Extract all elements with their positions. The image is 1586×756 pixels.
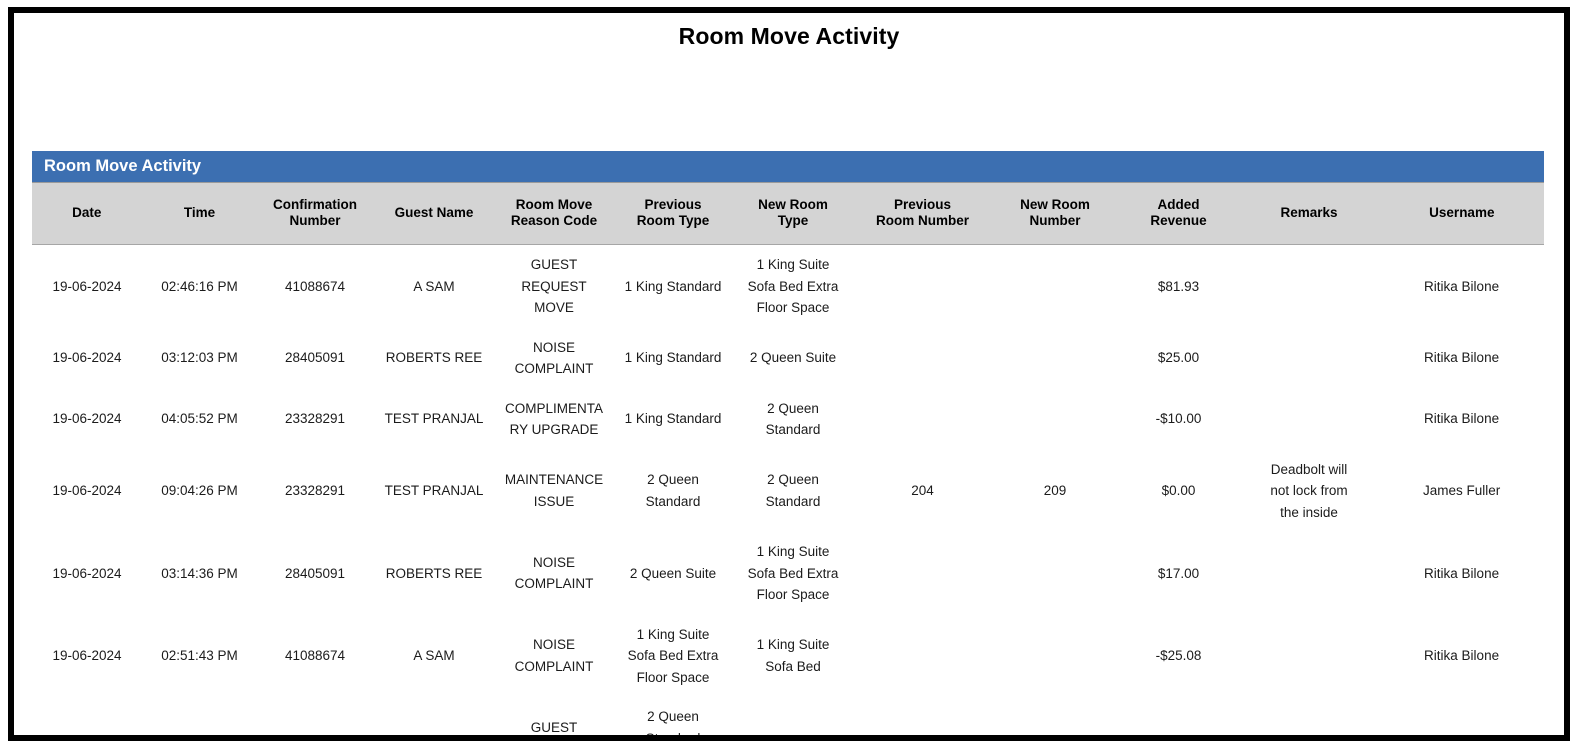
cell-guest-name: ROBERTS REE [373, 532, 495, 615]
cell-confirmation-number: 28405091 [257, 328, 373, 389]
cell-reason-code: GUEST REQUEST MOVE [495, 697, 613, 735]
cell-new-room-number [992, 328, 1118, 389]
cell-new-room-type: 2 Queen Standard [733, 389, 853, 450]
table-row: 19-06-202404:05:52 PM23328291TEST PRANJA… [32, 389, 1544, 450]
cell-new-room-number: 209 [992, 450, 1118, 533]
cell-previous-room-number: 204 [853, 450, 992, 533]
cell-date: 19-06-2024 [32, 389, 142, 450]
cell-time: 02:46:16 PM [142, 245, 257, 328]
cell-reason-code: NOISE COMPLAINT [495, 328, 613, 389]
cell-confirmation-number: 41088674 [257, 615, 373, 698]
cell-username: Ritika Bilone [1379, 389, 1544, 450]
cell-username: Ritika Bilone [1379, 245, 1544, 328]
cell-date: 19-06-2024 [32, 615, 142, 698]
cell-previous-room-number [853, 328, 992, 389]
report-page-frame: Room Move Activity Room Move Activity Da… [8, 7, 1570, 741]
cell-date: 19-06-2024 [32, 328, 142, 389]
cell-confirmation-number: 41088674 [257, 245, 373, 328]
cell-new-room-number [992, 532, 1118, 615]
cell-previous-room-number [853, 389, 992, 450]
table-row: 19-06-202409:04:26 PM23328291TEST PRANJA… [32, 450, 1544, 533]
column-header-room-move-reason-code: Room Move Reason Code [495, 183, 613, 245]
cell-remarks [1239, 615, 1379, 698]
cell-username: Ritika Bilone [1379, 697, 1544, 735]
column-header-new-room-type: New Room Type [733, 183, 853, 245]
table-row: 19-06-202403:12:03 PM28405091ROBERTS REE… [32, 328, 1544, 389]
column-header-added-revenue: Added Revenue [1118, 183, 1239, 245]
cell-new-room-type: 2 Queen Standard [733, 450, 853, 533]
cell-time: 04:05:52 PM [142, 389, 257, 450]
cell-previous-room-type: 2 Queen Suite [613, 532, 733, 615]
cell-time: 02:51:43 PM [142, 615, 257, 698]
cell-remarks [1239, 532, 1379, 615]
cell-reason-code: COMPLIMENTA RY UPGRADE [495, 389, 613, 450]
cell-added-revenue: $81.93 [1118, 245, 1239, 328]
cell-new-room-type: 1 King Suite Sofa Bed Extra Floor Space [733, 245, 853, 328]
column-header-username: Username [1379, 183, 1544, 245]
cell-confirmation-number: 28405091 [257, 532, 373, 615]
table-row: 19-06-202403:14:36 PM28405091ROBERTS REE… [32, 532, 1544, 615]
cell-date: 19-06-2024 [32, 532, 142, 615]
cell-remarks [1239, 697, 1379, 735]
column-header-time: Time [142, 183, 257, 245]
cell-remarks [1239, 328, 1379, 389]
report-table-container: Room Move Activity Date Time Confirmatio… [32, 151, 1544, 735]
cell-reason-code: MAINTENANCE ISSUE [495, 450, 613, 533]
cell-previous-room-number [853, 615, 992, 698]
cell-new-room-type: 1 King Suite Sofa Bed Extra Floor Space [733, 532, 853, 615]
cell-new-room-number [992, 615, 1118, 698]
section-band-row: Room Move Activity [32, 151, 1544, 183]
cell-previous-room-type: 1 King Standard [613, 245, 733, 328]
cell-guest-name: A SAM [373, 697, 495, 735]
cell-confirmation-number: 23328291 [257, 389, 373, 450]
column-header-previous-room-type: Previous Room Type [613, 183, 733, 245]
cell-time: 09:04:26 PM [142, 450, 257, 533]
cell-previous-room-number [853, 697, 992, 735]
cell-reason-code: NOISE COMPLAINT [495, 532, 613, 615]
cell-reason-code: GUEST REQUEST MOVE [495, 245, 613, 328]
cell-added-revenue: $28.42 [1118, 697, 1239, 735]
cell-username: Ritika Bilone [1379, 615, 1544, 698]
column-header-row: Date Time Confirmation Number Guest Name… [32, 183, 1544, 245]
cell-remarks: Deadbolt will not lock from the inside [1239, 450, 1379, 533]
cell-previous-room-type: 2 Queen Standard Comm Mobil Access Tub [613, 697, 733, 735]
column-header-new-room-number: New Room Number [992, 183, 1118, 245]
table-row: 19-06-202402:51:43 PM41088674A SAMNOISE … [32, 615, 1544, 698]
column-header-date: Date [32, 183, 142, 245]
cell-new-room-number [992, 697, 1118, 735]
table-row: 19-06-202402:46:16 PM41088674A SAMGUEST … [32, 245, 1544, 328]
report-page: Room Move Activity Room Move Activity Da… [14, 13, 1564, 735]
cell-date: 19-06-2024 [32, 245, 142, 328]
cell-confirmation-number: 41088674 [257, 697, 373, 735]
cell-username: Ritika Bilone [1379, 532, 1544, 615]
cell-reason-code: NOISE COMPLAINT [495, 615, 613, 698]
cell-previous-room-type: 1 King Standard [613, 389, 733, 450]
cell-time: 02:43:15 PM [142, 697, 257, 735]
table-row: 19-06-202402:43:15 PM41088674A SAMGUEST … [32, 697, 1544, 735]
cell-added-revenue: $0.00 [1118, 450, 1239, 533]
cell-added-revenue: $17.00 [1118, 532, 1239, 615]
section-band-label: Room Move Activity [32, 151, 1544, 183]
cell-added-revenue: -$10.00 [1118, 389, 1239, 450]
cell-guest-name: TEST PRANJAL [373, 450, 495, 533]
cell-remarks [1239, 245, 1379, 328]
cell-new-room-type: 2 Queen Suite [733, 328, 853, 389]
cell-guest-name: A SAM [373, 615, 495, 698]
cell-guest-name: ROBERTS REE [373, 328, 495, 389]
cell-new-room-type: 1 King Suite Sofa Bed [733, 615, 853, 698]
cell-previous-room-type: 1 King Suite Sofa Bed Extra Floor Space [613, 615, 733, 698]
cell-guest-name: A SAM [373, 245, 495, 328]
cell-previous-room-number [853, 245, 992, 328]
cell-previous-room-number [853, 532, 992, 615]
column-header-remarks: Remarks [1239, 183, 1379, 245]
cell-username: James Fuller [1379, 450, 1544, 533]
cell-date: 19-06-2024 [32, 697, 142, 735]
cell-previous-room-type: 1 King Standard [613, 328, 733, 389]
cell-previous-room-type: 2 Queen Standard [613, 450, 733, 533]
column-header-previous-room-number: Previous Room Number [853, 183, 992, 245]
column-header-guest-name: Guest Name [373, 183, 495, 245]
cell-date: 19-06-2024 [32, 450, 142, 533]
room-move-activity-table: Room Move Activity Date Time Confirmatio… [32, 151, 1544, 735]
cell-time: 03:12:03 PM [142, 328, 257, 389]
cell-username: Ritika Bilone [1379, 328, 1544, 389]
page-title: Room Move Activity [14, 23, 1564, 50]
cell-new-room-number [992, 389, 1118, 450]
cell-new-room-type: 1 King Standard [733, 697, 853, 735]
cell-guest-name: TEST PRANJAL [373, 389, 495, 450]
cell-new-room-number [992, 245, 1118, 328]
cell-confirmation-number: 23328291 [257, 450, 373, 533]
column-header-confirmation-number: Confirmation Number [257, 183, 373, 245]
cell-time: 03:14:36 PM [142, 532, 257, 615]
cell-remarks [1239, 389, 1379, 450]
cell-added-revenue: $25.00 [1118, 328, 1239, 389]
cell-added-revenue: -$25.08 [1118, 615, 1239, 698]
